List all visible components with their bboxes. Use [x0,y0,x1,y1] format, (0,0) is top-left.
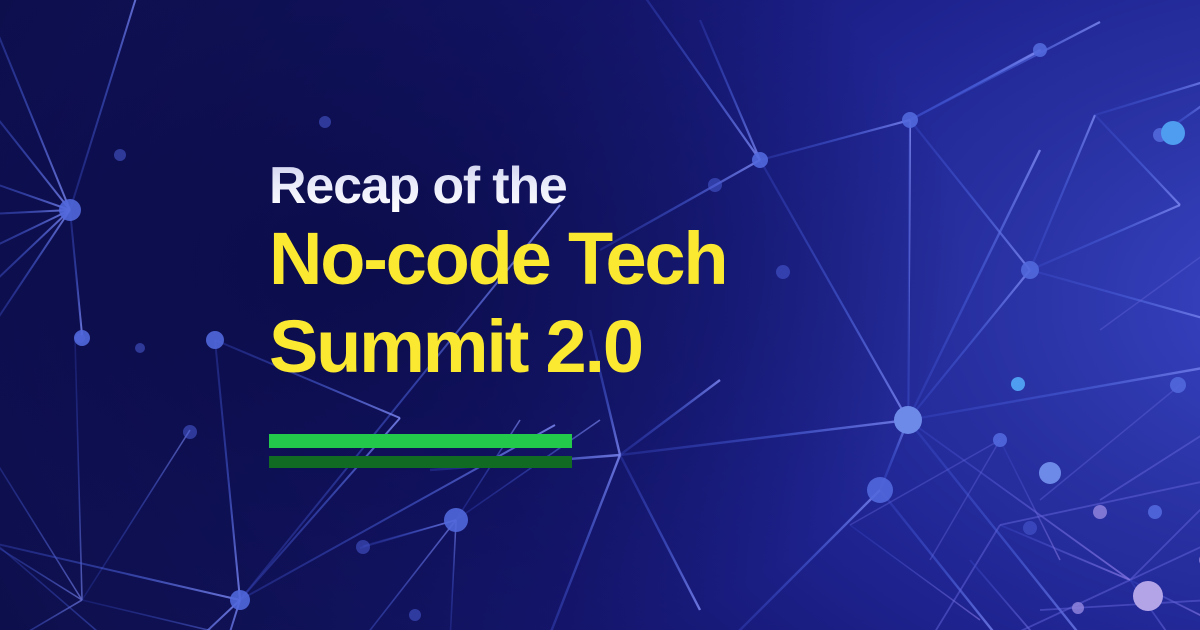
dark-green-rule [269,456,572,468]
headline-block: Recap of the No-code Tech Summit 2.0 [269,160,909,384]
bright-green-rule [269,434,572,448]
title-line-2: Summit 2.0 [269,310,909,384]
accent-rule-group [269,434,572,468]
social-share-banner: Recap of the No-code Tech Summit 2.0 [0,0,1200,630]
headline-eyebrow: Recap of the [269,160,909,212]
page-title: No-code Tech Summit 2.0 [269,222,909,384]
title-line-1: No-code Tech [269,217,726,300]
